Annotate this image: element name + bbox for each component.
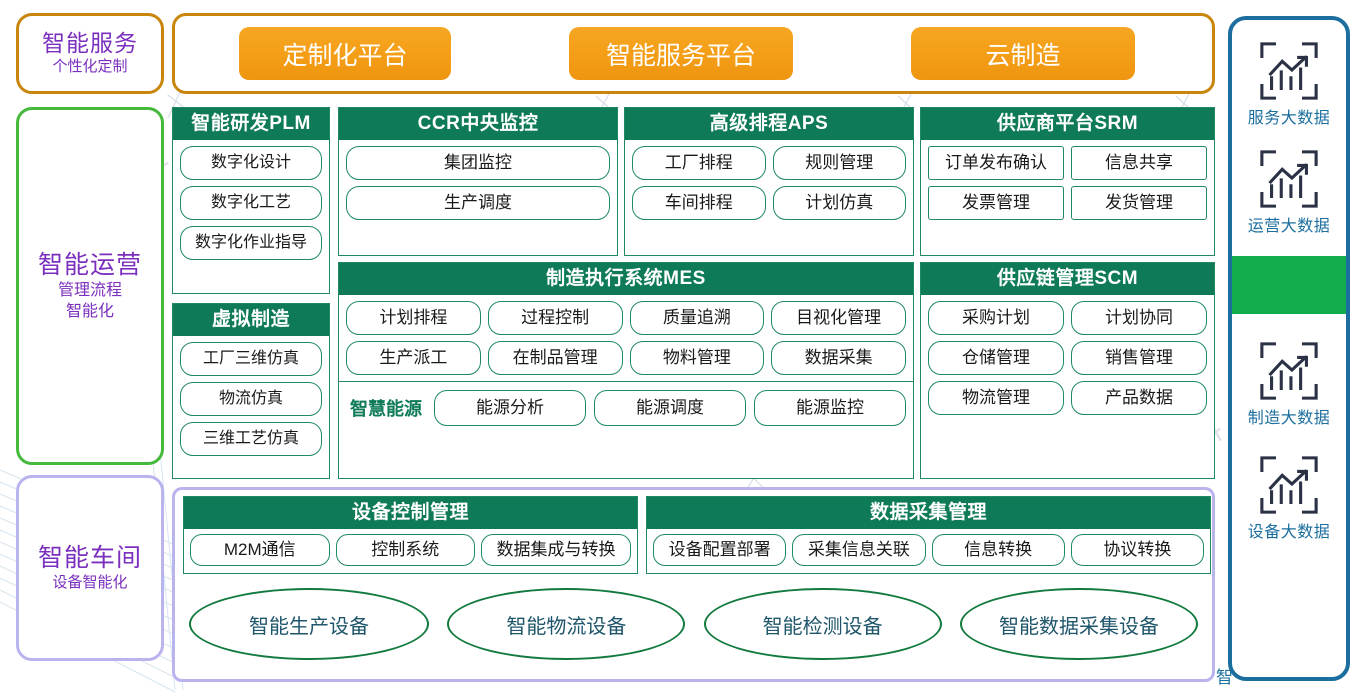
- chip-item[interactable]: 数字化作业指导: [180, 226, 322, 260]
- module-device-control[interactable]: 设备控制管理 M2M通信 控制系统 数据集成与转换: [183, 496, 638, 574]
- bigdata-item-operation[interactable]: 运营大数据: [1232, 148, 1346, 236]
- chip-item[interactable]: 能源分析: [434, 390, 586, 426]
- chip-row: 车间排程 计划仿真: [632, 186, 906, 220]
- chip-row: 数字化设计: [180, 146, 322, 180]
- chip-row: 物流仿真: [180, 382, 322, 416]
- chip-row: 生产调度: [346, 186, 610, 220]
- module-title: 供应商平台SRM: [921, 108, 1214, 140]
- module-ccr[interactable]: CCR中央监控 集团监控 生产调度: [338, 107, 618, 256]
- module-title: 高级排程APS: [625, 108, 913, 140]
- chip-item[interactable]: 物料管理: [630, 341, 765, 375]
- module-aps[interactable]: 高级排程APS 工厂排程 规则管理 车间排程 计划仿真: [624, 107, 914, 256]
- chip-item[interactable]: 数字化工艺: [180, 186, 322, 220]
- module-virtual-manufacturing[interactable]: 虚拟制造 工厂三维仿真 物流仿真 三维工艺仿真: [172, 303, 330, 479]
- module-body: 集团监控 生产调度: [339, 140, 617, 226]
- chip-item[interactable]: 订单发布确认: [928, 146, 1064, 180]
- rail-item-subtitle: 个性化定制: [52, 58, 127, 76]
- module-body: 工厂三维仿真 物流仿真 三维工艺仿真: [173, 336, 329, 462]
- chip-row: 采购计划 计划协同: [928, 301, 1207, 335]
- chip-item[interactable]: 仓储管理: [928, 341, 1064, 375]
- chip-item[interactable]: 数据采集: [771, 341, 906, 375]
- chip-item[interactable]: 信息共享: [1071, 146, 1207, 180]
- module-srm[interactable]: 供应商平台SRM 订单发布确认 信息共享 发票管理 发货管理: [920, 107, 1215, 256]
- module-plm[interactable]: 智能研发PLM 数字化设计 数字化工艺 数字化作业指导: [172, 107, 330, 294]
- workshop-modules: 设备控制管理 M2M通信 控制系统 数据集成与转换 数据采集管理 设备配置部署 …: [183, 496, 1204, 574]
- chip-row: 工厂三维仿真: [180, 342, 322, 376]
- bigdata-chart-icon: [1258, 454, 1320, 516]
- chip-row: M2M通信 控制系统 数据集成与转换: [190, 534, 631, 566]
- chip-row: 集团监控: [346, 146, 610, 180]
- module-title: CCR中央监控: [339, 108, 617, 140]
- module-title: 数据采集管理: [647, 497, 1210, 529]
- equipment-data-acquisition[interactable]: 智能数据采集设备: [960, 588, 1198, 660]
- bigdata-item-manufacturing[interactable]: 制造大数据: [1232, 340, 1346, 428]
- equipment-logistics[interactable]: 智能物流设备: [447, 588, 685, 660]
- module-scm[interactable]: 供应链管理SCM 采购计划 计划协同 仓储管理 销售管理 物流管理 产品数据: [920, 262, 1215, 479]
- chip-row: 数字化作业指导: [180, 226, 322, 260]
- chip-item[interactable]: 物流管理: [928, 381, 1064, 415]
- chip-item[interactable]: 设备配置部署: [653, 534, 786, 566]
- platform-button-smart-service[interactable]: 智能服务平台: [569, 27, 793, 80]
- chip-item[interactable]: 质量追溯: [630, 301, 765, 335]
- platform-bar: 定制化平台 智能服务平台 云制造: [172, 13, 1215, 94]
- energy-subsection: 智慧能源 能源分析 能源调度 能源监控: [339, 381, 913, 434]
- module-body: 订单发布确认 信息共享 发票管理 发货管理: [921, 140, 1214, 226]
- chip-item[interactable]: M2M通信: [190, 534, 330, 566]
- chip-row: 设备配置部署 采集信息关联 信息转换 协议转换: [653, 534, 1204, 566]
- rail-accent-block: [1232, 256, 1346, 314]
- chip-item[interactable]: 在制品管理: [488, 341, 623, 375]
- chip-item[interactable]: 发货管理: [1071, 186, 1207, 220]
- module-title: 虚拟制造: [173, 304, 329, 336]
- architecture-diagram: 厂 科 年 云 云 智能服务 个性化定制 智能运营 管理流程 智能化 智能车间 …: [0, 0, 1365, 695]
- chip-item[interactable]: 三维工艺仿真: [180, 422, 322, 456]
- chip-item[interactable]: 控制系统: [336, 534, 476, 566]
- platform-button-custom[interactable]: 定制化平台: [239, 27, 451, 80]
- chip-item[interactable]: 采购计划: [928, 301, 1064, 335]
- chip-item[interactable]: 协议转换: [1071, 534, 1204, 566]
- chip-item[interactable]: 工厂排程: [632, 146, 766, 180]
- bigdata-chart-icon: [1258, 340, 1320, 402]
- chip-item[interactable]: 目视化管理: [771, 301, 906, 335]
- module-body: 计划排程 过程控制 质量追溯 目视化管理 生产派工 在制品管理 物料管理 数据采…: [339, 295, 913, 434]
- module-title: 设备控制管理: [184, 497, 637, 529]
- module-body: 数字化设计 数字化工艺 数字化作业指导: [173, 140, 329, 266]
- chip-item[interactable]: 数字化设计: [180, 146, 322, 180]
- chip-item[interactable]: 集团监控: [346, 146, 610, 180]
- bigdata-item-equipment[interactable]: 设备大数据: [1232, 454, 1346, 542]
- module-body: M2M通信 控制系统 数据集成与转换: [184, 529, 637, 571]
- chip-item[interactable]: 产品数据: [1071, 381, 1207, 415]
- rail-item-title: 智能运营: [38, 251, 142, 279]
- chip-row: 数字化工艺: [180, 186, 322, 220]
- rail-item-subtitle-line2: 智能化: [66, 302, 114, 321]
- bigdata-label: 设备大数据: [1248, 518, 1331, 542]
- module-data-acquisition[interactable]: 数据采集管理 设备配置部署 采集信息关联 信息转换 协议转换: [646, 496, 1211, 574]
- chip-item[interactable]: 信息转换: [932, 534, 1065, 566]
- workshop-layer-panel: 设备控制管理 M2M通信 控制系统 数据集成与转换 数据采集管理 设备配置部署 …: [172, 487, 1215, 682]
- chip-item[interactable]: 数据集成与转换: [481, 534, 631, 566]
- bigdata-item-service[interactable]: 服务大数据: [1232, 40, 1346, 128]
- chip-row: 仓储管理 销售管理: [928, 341, 1207, 375]
- chip-row: 计划排程 过程控制 质量追溯 目视化管理: [346, 301, 906, 335]
- chip-item[interactable]: 计划协同: [1071, 301, 1207, 335]
- chip-row: 生产派工 在制品管理 物料管理 数据采集: [346, 341, 906, 375]
- chip-item[interactable]: 计划排程: [346, 301, 481, 335]
- chip-item[interactable]: 车间排程: [632, 186, 766, 220]
- chip-item[interactable]: 物流仿真: [180, 382, 322, 416]
- energy-label: 智慧能源: [346, 395, 426, 421]
- bigdata-label: 制造大数据: [1248, 404, 1331, 428]
- chip-item[interactable]: 能源监控: [754, 390, 906, 426]
- chip-row: 订单发布确认 信息共享: [928, 146, 1207, 180]
- operation-layer-panel: 智能研发PLM 数字化设计 数字化工艺 数字化作业指导 虚拟制造 工厂三维仿真: [172, 107, 1215, 479]
- chip-row: 发票管理 发货管理: [928, 186, 1207, 220]
- bigdata-label: 运营大数据: [1248, 212, 1331, 236]
- module-body: 采购计划 计划协同 仓储管理 销售管理 物流管理 产品数据: [921, 295, 1214, 421]
- module-mes[interactable]: 制造执行系统MES 计划排程 过程控制 质量追溯 目视化管理 生产派工 在制品管…: [338, 262, 914, 479]
- chip-item[interactable]: 采集信息关联: [792, 534, 925, 566]
- chip-item[interactable]: 发票管理: [928, 186, 1064, 220]
- module-title: 智能研发PLM: [173, 108, 329, 140]
- chip-item[interactable]: 工厂三维仿真: [180, 342, 322, 376]
- chip-item[interactable]: 计划仿真: [773, 186, 907, 220]
- equipment-inspection[interactable]: 智能检测设备: [704, 588, 942, 660]
- chip-item[interactable]: 生产派工: [346, 341, 481, 375]
- left-rail: 智能服务 个性化定制 智能运营 管理流程 智能化 智能车间 设备智能化: [16, 13, 164, 661]
- equipment-production[interactable]: 智能生产设备: [189, 588, 429, 660]
- chip-item[interactable]: 生产调度: [346, 186, 610, 220]
- chip-row: 三维工艺仿真: [180, 422, 322, 456]
- rail-item-smart-workshop[interactable]: 智能车间 设备智能化: [16, 475, 164, 661]
- module-body: 设备配置部署 采集信息关联 信息转换 协议转换: [647, 529, 1210, 571]
- chip-row: 工厂排程 规则管理: [632, 146, 906, 180]
- module-title: 供应链管理SCM: [921, 263, 1214, 295]
- rail-item-smart-service[interactable]: 智能服务 个性化定制: [16, 13, 164, 94]
- bigdata-chart-icon: [1258, 40, 1320, 102]
- chip-item[interactable]: 销售管理: [1071, 341, 1207, 375]
- equipment-row: 智能生产设备 智能物流设备 智能检测设备 智能数据采集设备: [189, 588, 1198, 660]
- right-rail-bigdata: 服务大数据 运营大数据: [1228, 16, 1350, 681]
- chip-item[interactable]: 规则管理: [773, 146, 907, 180]
- rail-item-smart-operation[interactable]: 智能运营 管理流程 智能化: [16, 107, 164, 465]
- platform-button-cloud-manufacturing[interactable]: 云制造: [911, 27, 1135, 80]
- chip-row: 物流管理 产品数据: [928, 381, 1207, 415]
- module-body: 工厂排程 规则管理 车间排程 计划仿真: [625, 140, 913, 226]
- rail-item-title: 智能车间: [38, 544, 142, 572]
- rail-item-subtitle-line1: 管理流程: [58, 281, 122, 300]
- bigdata-chart-icon: [1258, 148, 1320, 210]
- module-title: 制造执行系统MES: [339, 263, 913, 295]
- chip-item[interactable]: 能源调度: [594, 390, 746, 426]
- bigdata-label: 服务大数据: [1248, 104, 1331, 128]
- rail-item-title: 智能服务: [42, 31, 138, 57]
- rail-item-subtitle: 设备智能化: [52, 574, 127, 592]
- chip-item[interactable]: 过程控制: [488, 301, 623, 335]
